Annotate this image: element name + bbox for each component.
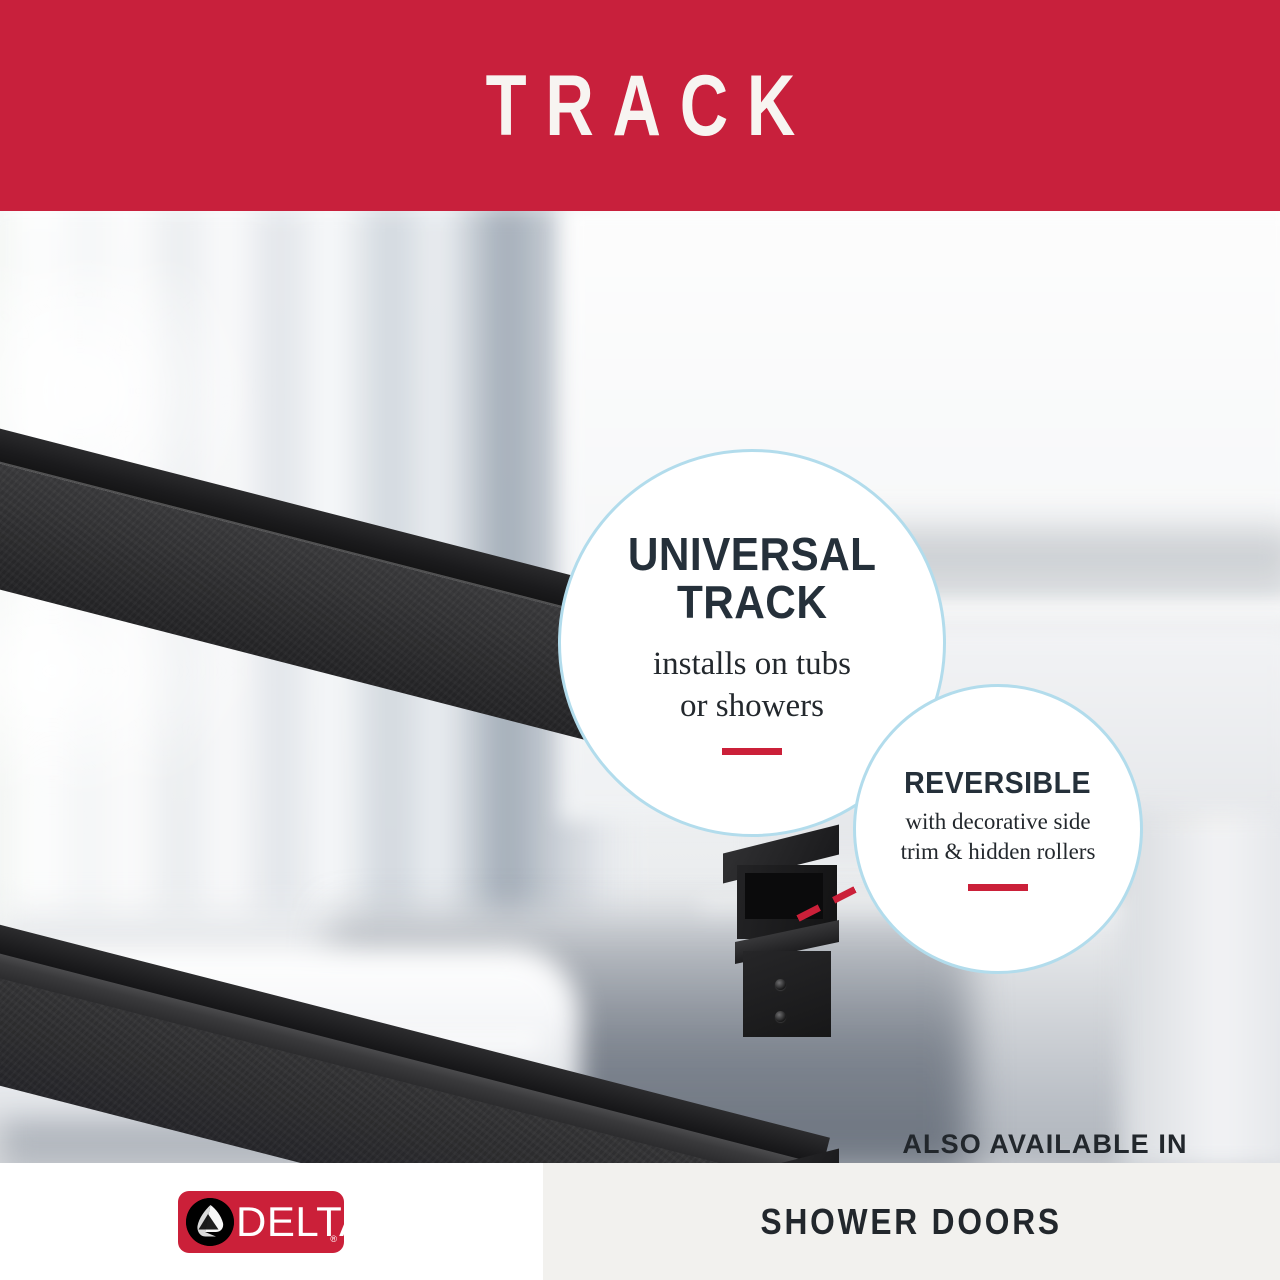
page-title: TRACK <box>466 63 813 149</box>
callout-heading: REVERSIBLE <box>905 767 1092 799</box>
background-floor-shadow <box>330 911 970 1163</box>
delta-wordmark: DELTA <box>236 1200 368 1244</box>
background-tub <box>0 947 580 1117</box>
screw-hole-icon <box>775 1011 786 1022</box>
callout-reversible: REVERSIBLE with decorative side trim & h… <box>853 684 1143 974</box>
rail-bullnose-edge <box>0 946 823 1163</box>
available-finishes: ALSO AVAILABLE IN BRUSHED NICKEL CHROME <box>900 1129 1190 1163</box>
rail-matte-texture <box>0 969 817 1163</box>
background-bottle <box>1160 829 1240 919</box>
callout-subtext-line-2: trim & hidden rollers <box>901 837 1096 866</box>
product-photo-stage: UNIVERSAL TRACK installs on tubs or show… <box>0 211 1280 1163</box>
background-window-glow <box>0 271 260 571</box>
background-window-glow-lower <box>0 541 260 801</box>
rail-front-face <box>0 969 817 1163</box>
callout-heading: UNIVERSAL TRACK <box>628 531 877 627</box>
end-cap-mount-plate <box>743 951 831 1037</box>
callout-heading-line-1: UNIVERSAL <box>628 531 877 579</box>
footer: DELTA ® SHOWER DOORS <box>0 1163 1280 1280</box>
background-tub-edge <box>0 1031 540 1061</box>
callout-accent-rule <box>968 884 1028 891</box>
callout-subtext: installs on tubs or showers <box>653 643 851 727</box>
header-banner: TRACK <box>0 0 1280 211</box>
delta-triangle-mark-icon <box>186 1198 234 1246</box>
background-window <box>0 211 620 961</box>
delta-logo[interactable]: DELTA ® <box>178 1191 344 1253</box>
callout-accent-rule <box>722 748 782 755</box>
background-floor <box>0 911 1280 1163</box>
end-cap-top <box>723 1149 839 1163</box>
callout-subtext-line-1: with decorative side <box>901 807 1096 836</box>
callout-subtext-line-1: installs on tubs <box>653 643 851 685</box>
callout-heading-line-2: TRACK <box>628 579 877 627</box>
callout-subtext-line-2: or showers <box>653 685 851 727</box>
footer-category-panel: SHOWER DOORS <box>543 1163 1280 1280</box>
footer-tagline: SHOWER DOORS <box>761 1201 1062 1243</box>
product-marketing-card: TRACK <box>0 0 1280 1280</box>
footer-brand-panel: DELTA ® <box>0 1163 543 1280</box>
callout-subtext: with decorative side trim & hidden rolle… <box>901 807 1096 866</box>
screw-hole-icon <box>775 979 786 990</box>
callout-heading-line-1: REVERSIBLE <box>905 767 1092 799</box>
rail-top-face <box>0 919 830 1163</box>
background-right-wall <box>1120 811 1280 1163</box>
registered-trademark-icon: ® <box>330 1234 337 1244</box>
rail-end-cap-upper <box>723 839 855 1057</box>
available-finishes-title: ALSO AVAILABLE IN <box>902 1129 1187 1160</box>
